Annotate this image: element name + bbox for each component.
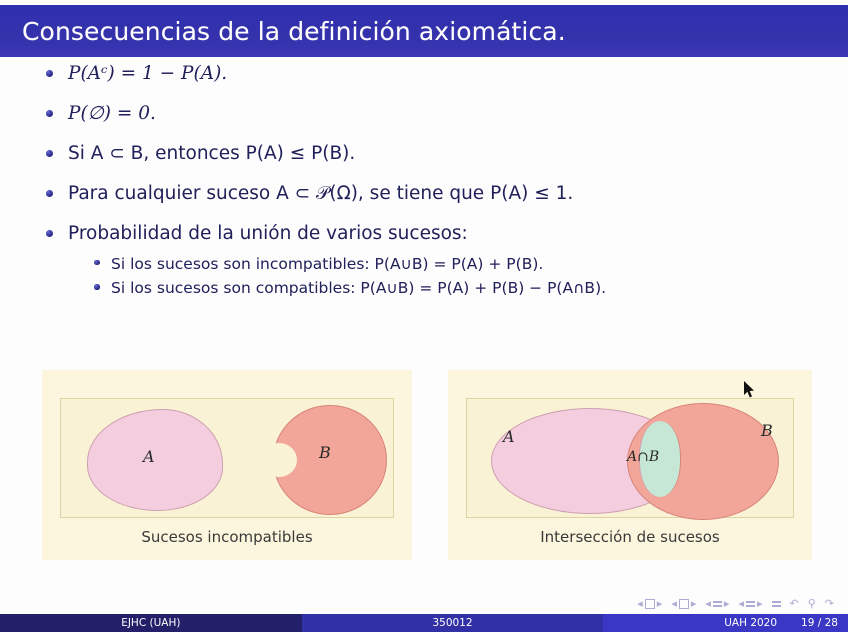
bullet-text-3: Si A ⊂ B, entonces P(A) ≤ P(B). — [68, 143, 355, 164]
sub-bullet-dot-icon — [94, 260, 100, 266]
footer-author: EJHC (UAH) — [0, 614, 302, 632]
set-b-notch — [261, 443, 297, 477]
sub-bullet-text-2: Si los sucesos son compatibles: P(A∪B) =… — [111, 279, 606, 297]
bullet-text-1: P(Aᶜ) = 1 − P(A). — [68, 63, 227, 84]
figures-row: A B Sucesos incompatibles A B A∩B Inters… — [0, 370, 848, 560]
sub-bullet-dot-icon — [94, 284, 100, 290]
frame-nav-icon[interactable]: ◂▸ — [671, 597, 696, 610]
footer-page-number: 19 / 28 — [801, 617, 838, 629]
bullet-dot-icon — [46, 70, 53, 77]
union-sublist: Si los sucesos son incompatibles: P(A∪B)… — [68, 253, 848, 300]
slide-footer: EJHC (UAH) 350012 UAH 2020 19 / 28 — [0, 614, 848, 632]
intersection-label: A∩B — [627, 449, 659, 465]
bullet-text-5: Probabilidad de la unión de varios suces… — [68, 223, 468, 244]
list-item: Para cualquier suceso A ⊂ 𝒫(Ω), se tiene… — [46, 182, 848, 207]
set-b-label: B — [761, 421, 773, 440]
back-nav-icon[interactable]: ↶ — [790, 597, 799, 610]
presentation-nav-icon[interactable] — [772, 600, 781, 608]
figure-right-frame: A B A∩B — [466, 398, 794, 518]
figure-left-frame: A B — [60, 398, 394, 518]
footer-institute: UAH 2020 — [724, 617, 777, 629]
list-item: Probabilidad de la unión de varios suces… — [46, 222, 848, 300]
list-item: P(∅) = 0. — [46, 102, 848, 127]
figure-event-intersection: A B A∩B Intersección de sucesos — [448, 370, 812, 560]
slide-nav-icon[interactable]: ◂▸ — [637, 597, 662, 610]
bullet-text-2: P(∅) = 0. — [68, 103, 156, 124]
search-nav-icon[interactable]: ⚲ — [808, 597, 816, 610]
bullet-dot-icon — [46, 230, 53, 237]
footer-right: UAH 2020 19 / 28 — [603, 614, 848, 632]
footer-course: 350012 — [302, 614, 604, 632]
subsection-nav-icon[interactable]: ◂ ▸ — [705, 597, 729, 610]
bullet-dot-icon — [46, 190, 53, 197]
set-b-label: B — [319, 443, 331, 462]
bullet-text-4: Para cualquier suceso A ⊂ 𝒫(Ω), se tiene… — [68, 183, 573, 204]
list-item: P(Aᶜ) = 1 − P(A). — [46, 62, 848, 87]
list-item: Si A ⊂ B, entonces P(A) ≤ P(B). — [46, 142, 848, 167]
section-nav-icon[interactable]: ◂ ▸ — [738, 597, 762, 610]
set-a-label: A — [503, 427, 515, 446]
figure-left-caption: Sucesos incompatibles — [42, 528, 412, 546]
page-title: Consecuencias de la definición axiomátic… — [0, 17, 566, 46]
list-item: Si los sucesos son incompatibles: P(A∪B)… — [94, 253, 848, 275]
list-item: Si los sucesos son compatibles: P(A∪B) =… — [94, 277, 848, 299]
bullet-dot-icon — [46, 150, 53, 157]
figure-incompatible-events: A B Sucesos incompatibles — [42, 370, 412, 560]
bullet-dot-icon — [46, 110, 53, 117]
figure-right-caption: Intersección de sucesos — [448, 528, 812, 546]
forward-nav-icon[interactable]: ↷ — [825, 597, 834, 610]
slide-title-bar: Consecuencias de la definición axiomátic… — [0, 5, 848, 57]
set-a-label: A — [143, 447, 155, 466]
set-a-shape — [87, 409, 223, 511]
consequences-list: P(Aᶜ) = 1 − P(A). P(∅) = 0. Si A ⊂ B, en… — [0, 62, 848, 300]
slide-body: P(Aᶜ) = 1 − P(A). P(∅) = 0. Si A ⊂ B, en… — [0, 62, 848, 315]
sub-bullet-text-1: Si los sucesos son incompatibles: P(A∪B)… — [111, 255, 543, 273]
beamer-navigation-symbols[interactable]: ◂▸ ◂▸ ◂ ▸ ◂ ▸ ↶ ⚲ ↷ — [637, 597, 834, 610]
